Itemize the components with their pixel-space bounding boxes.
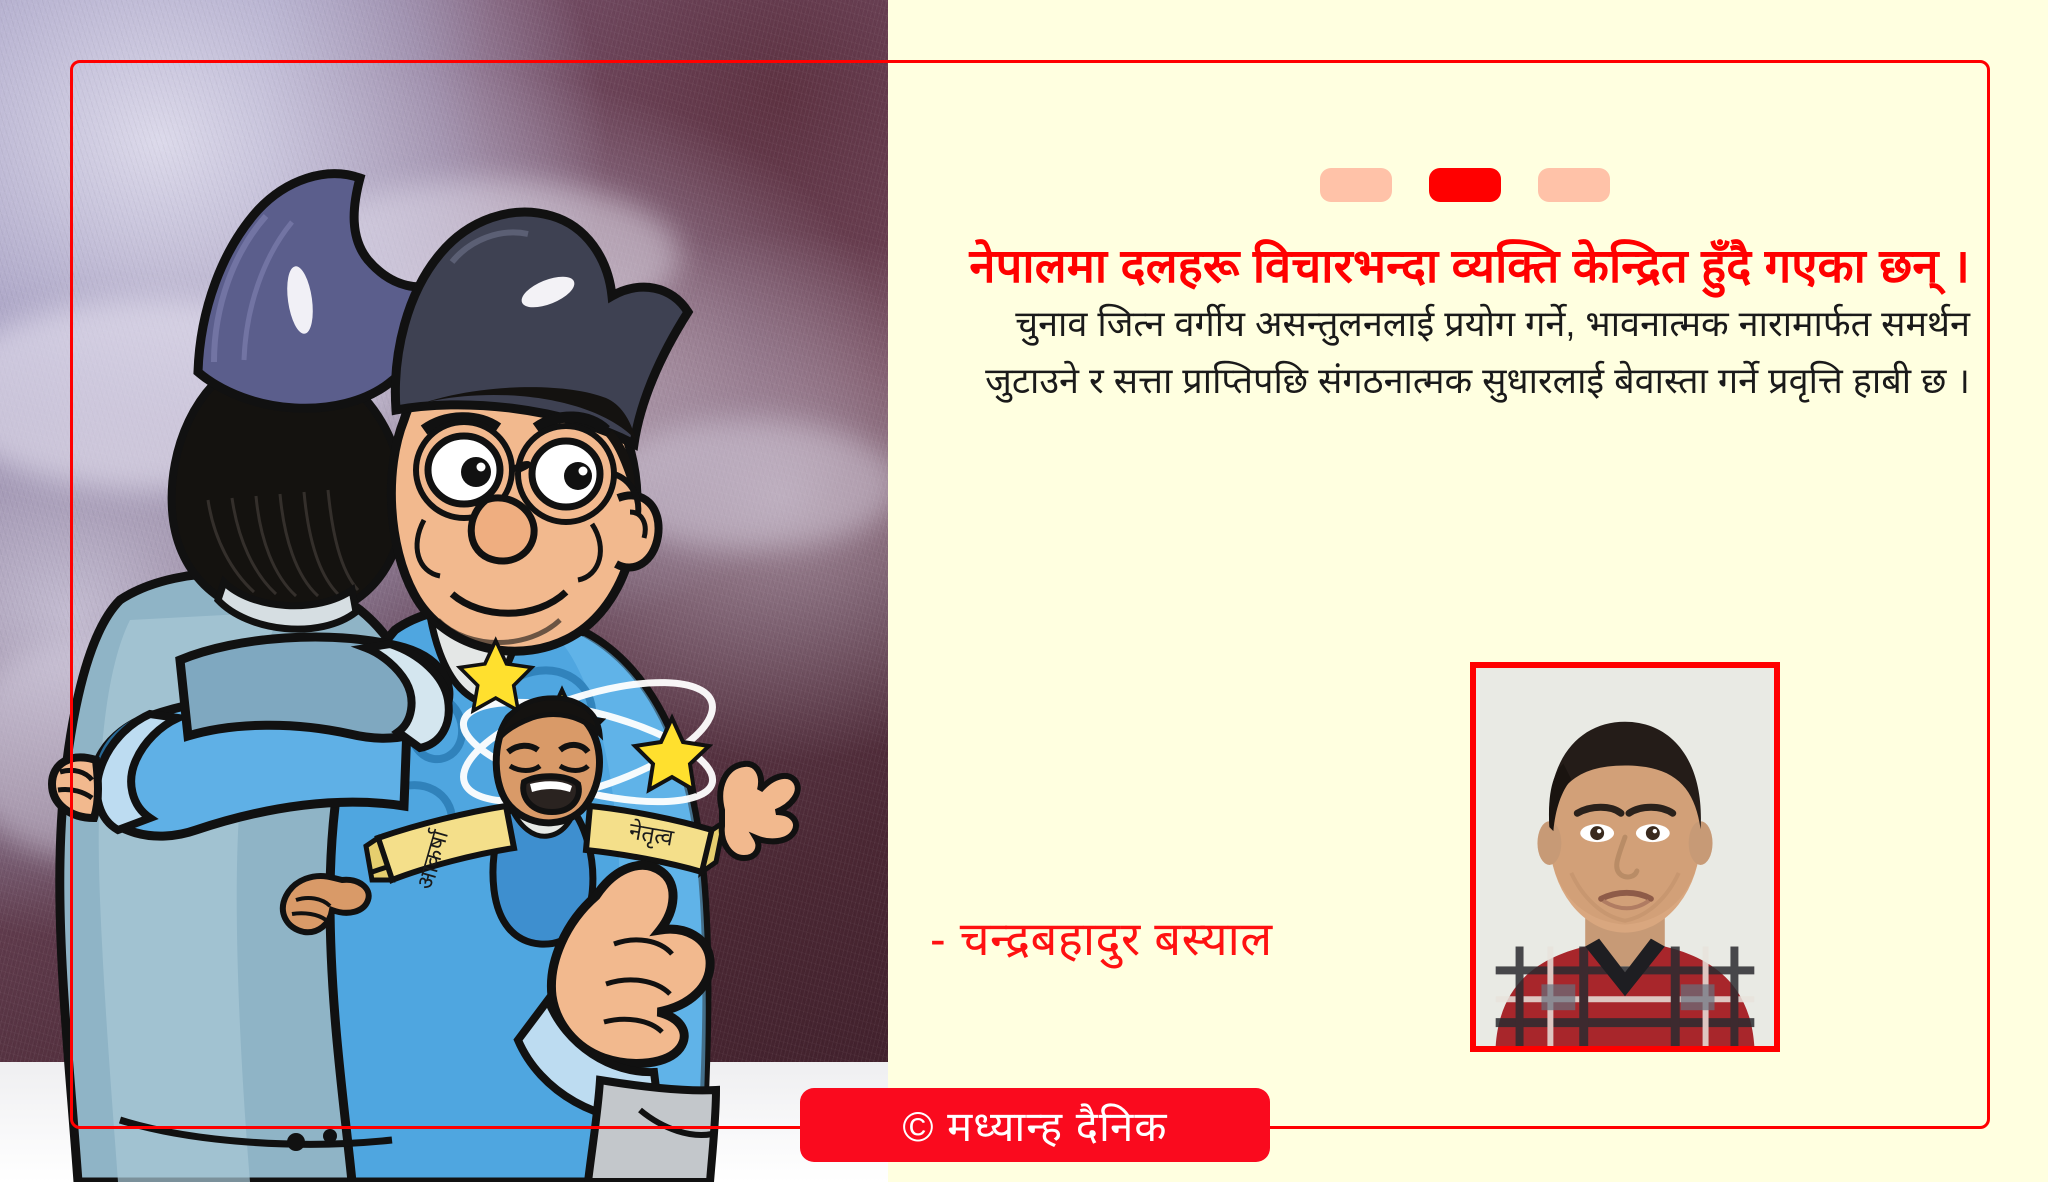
watermark-text: © मध्यान्ह दैनिक <box>902 1097 1167 1154</box>
author-photo-image <box>1476 668 1774 1046</box>
quote-highlight: नेपालमा दलहरू विचारभन्दा व्यक्ति केन्द्र… <box>969 239 1970 292</box>
quote-body: चुनाव जित्न वर्गीय असन्तुलनलाई प्रयोग गर… <box>985 303 1970 401</box>
dot-left-icon <box>1320 168 1392 202</box>
cartoon-illustration: आकर्षा नेतृत्व <box>0 0 888 1182</box>
decorative-dots <box>1320 168 1610 202</box>
author-photo <box>1470 662 1780 1052</box>
author-byline: - चन्द्रबहादुर बस्याल <box>930 905 1460 969</box>
dot-right-icon <box>1538 168 1610 202</box>
poster-canvas: आकर्षा नेतृत्व <box>0 0 2048 1182</box>
cartoon-figures: आकर्षा नेतृत्व <box>0 0 888 1182</box>
quote-block: नेपालमा दलहरू विचारभन्दा व्यक्ति केन्द्र… <box>920 235 1970 410</box>
watermark-badge: © मध्यान्ह दैनिक <box>800 1088 1270 1162</box>
dot-center-icon <box>1429 168 1501 202</box>
